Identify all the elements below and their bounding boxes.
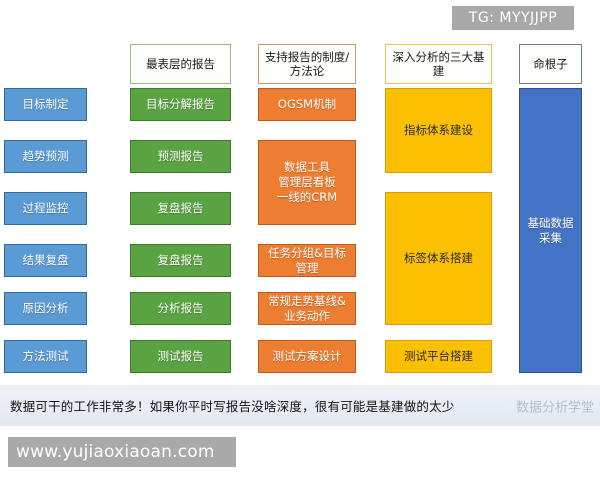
column-header-method: 支持报告的制度/方法论 [258, 44, 356, 84]
node-lifeline-0[interactable]: 基础数据采集 [519, 88, 582, 373]
node-infra-1[interactable]: 标签体系搭建 [385, 192, 492, 325]
node-report-3[interactable]: 复盘报告 [130, 244, 231, 277]
node-report-0[interactable]: 目标分解报告 [130, 88, 231, 121]
site-url-watermark: www.yujiaoxiaoan.com [8, 437, 236, 467]
node-analysis-1[interactable]: 趋势预测 [4, 140, 87, 173]
node-method-0[interactable]: OGSM机制 [258, 88, 356, 121]
caption-strip: 数据可干的工作非常多！如果你平时写报告没啥深度，很有可能是基建做的太少 数据分析… [0, 385, 600, 426]
node-method-2[interactable]: 任务分组&目标管理 [258, 244, 356, 277]
caption-text: 数据可干的工作非常多！如果你平时写报告没啥深度，很有可能是基建做的太少 [0, 396, 455, 415]
node-infra-2[interactable]: 测试平台搭建 [385, 340, 492, 373]
diagram-canvas: TG: MYYJJPP 最表层的报告 支持报告的制度/方法论 深入分析的三大基建… [0, 0, 600, 480]
node-method-3[interactable]: 常规走势基线&业务动作 [258, 292, 356, 325]
node-infra-0[interactable]: 指标体系建设 [385, 88, 492, 173]
column-header-infra: 深入分析的三大基建 [385, 44, 492, 84]
node-report-1[interactable]: 预测报告 [130, 140, 231, 173]
node-report-5[interactable]: 测试报告 [130, 340, 231, 373]
caption-watermark: 数据分析学堂 [516, 396, 594, 415]
node-analysis-4[interactable]: 原因分析 [4, 292, 87, 325]
channel-tag-banner: TG: MYYJJPP [452, 6, 574, 30]
column-header-lifeline: 命根子 [519, 44, 582, 84]
node-analysis-2[interactable]: 过程监控 [4, 192, 87, 225]
node-analysis-3[interactable]: 结果复盘 [4, 244, 87, 277]
column-header-report: 最表层的报告 [130, 44, 231, 84]
node-method-1[interactable]: 数据工具 管理层看板 一线的CRM [258, 140, 356, 225]
node-report-4[interactable]: 分析报告 [130, 292, 231, 325]
node-analysis-0[interactable]: 目标制定 [4, 88, 87, 121]
node-analysis-5[interactable]: 方法测试 [4, 340, 87, 373]
node-method-4[interactable]: 测试方案设计 [258, 340, 356, 373]
node-report-2[interactable]: 复盘报告 [130, 192, 231, 225]
